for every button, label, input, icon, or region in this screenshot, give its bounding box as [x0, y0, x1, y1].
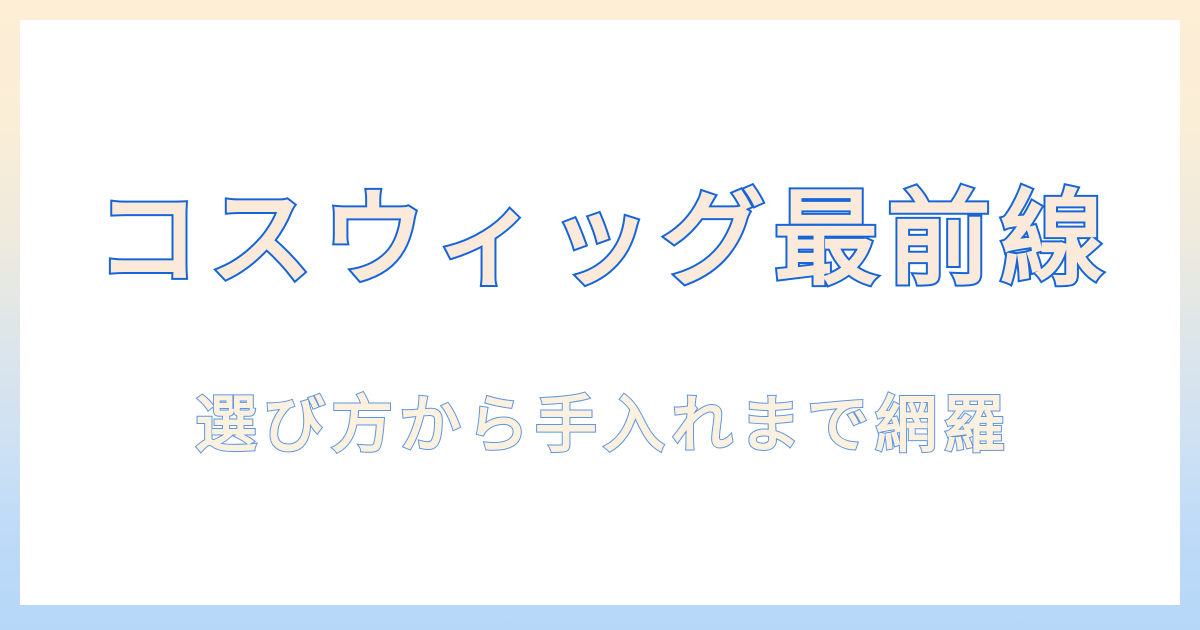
card-inner-surface: コスウィッグ最前線 選び方から手入れまで網羅 — [20, 20, 1180, 605]
subtitle-container: 選び方から手入れまで網羅 — [20, 388, 1180, 462]
page-subtitle: 選び方から手入れまで網羅 — [189, 388, 1011, 462]
page-title: コスウィッグ最前線 — [87, 180, 1113, 300]
eyecatch-card: コスウィッグ最前線 選び方から手入れまで網羅 — [0, 0, 1200, 630]
title-container: コスウィッグ最前線 — [20, 180, 1180, 300]
